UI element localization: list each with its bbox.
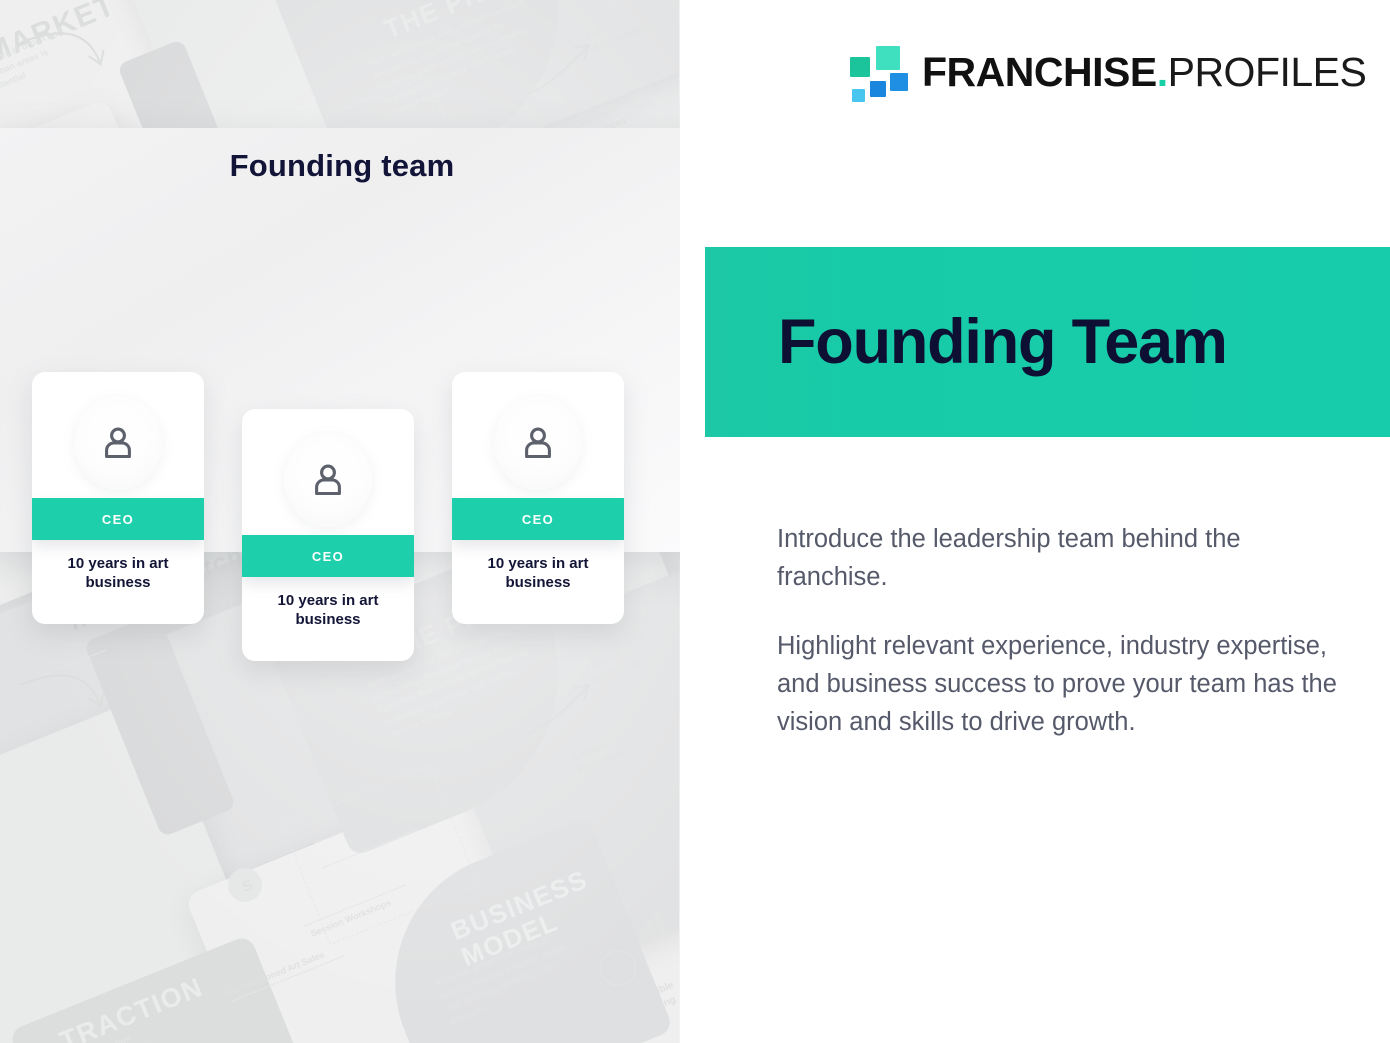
- square-blue-bright: [890, 73, 908, 91]
- role-badge: CEO: [452, 498, 624, 540]
- avatar-wrapper: [32, 378, 204, 508]
- avatar: [74, 396, 162, 490]
- avatar: [284, 433, 372, 527]
- logo-wordmark: FRANCHISE.PROFILES: [922, 52, 1366, 93]
- preview-panel-title: Founding team: [182, 148, 502, 184]
- member-description: 10 years in art business: [460, 554, 616, 592]
- avatar-wrapper: [452, 378, 624, 508]
- person-icon: [519, 424, 557, 462]
- logo-word-profiles: PROFILES: [1168, 49, 1367, 95]
- logo-word-franchise: FRANCHISE: [922, 49, 1157, 95]
- body-paragraph: Introduce the leadership team behind the…: [777, 521, 1339, 596]
- team-member-card[interactable]: CEO 10 years in art business: [242, 409, 414, 661]
- section-title-banner: Founding Team: [705, 247, 1390, 437]
- body-copy: Introduce the leadership team behind the…: [777, 521, 1339, 742]
- person-icon: [99, 424, 137, 462]
- slide-canvas: MARKET THE PROBLEM NAME Investor pitch d…: [0, 0, 1390, 1043]
- brand-logo[interactable]: FRANCHISE.PROFILES: [850, 42, 1366, 102]
- role-badge: CEO: [242, 535, 414, 577]
- member-description: 10 years in art business: [250, 591, 406, 629]
- collage-ring-icon: [600, 950, 636, 986]
- logo-word-dot: .: [1157, 49, 1168, 95]
- body-paragraph: Highlight relevant experience, industry …: [777, 628, 1339, 741]
- square-teal-light: [876, 46, 900, 70]
- avatar-wrapper: [242, 415, 414, 545]
- role-badge: CEO: [32, 498, 204, 540]
- right-content-pane: FRANCHISE.PROFILES Founding Team Introdu…: [680, 0, 1390, 1043]
- square-blue-mid: [870, 81, 886, 97]
- member-description: 10 years in art business: [40, 554, 196, 592]
- svg-text:S: S: [240, 877, 256, 897]
- team-member-card[interactable]: CEO 10 years in art business: [452, 372, 624, 624]
- avatar: [494, 396, 582, 490]
- team-member-card[interactable]: CEO 10 years in art business: [32, 372, 204, 624]
- logo-mark-icon: [850, 43, 906, 101]
- founding-team-preview-panel: Founding team CEO 10 years in art busine…: [0, 128, 705, 552]
- person-icon: [309, 461, 347, 499]
- page-title: Founding Team: [778, 306, 1227, 378]
- square-teal-dark: [850, 57, 870, 77]
- square-cyan-light: [852, 89, 865, 102]
